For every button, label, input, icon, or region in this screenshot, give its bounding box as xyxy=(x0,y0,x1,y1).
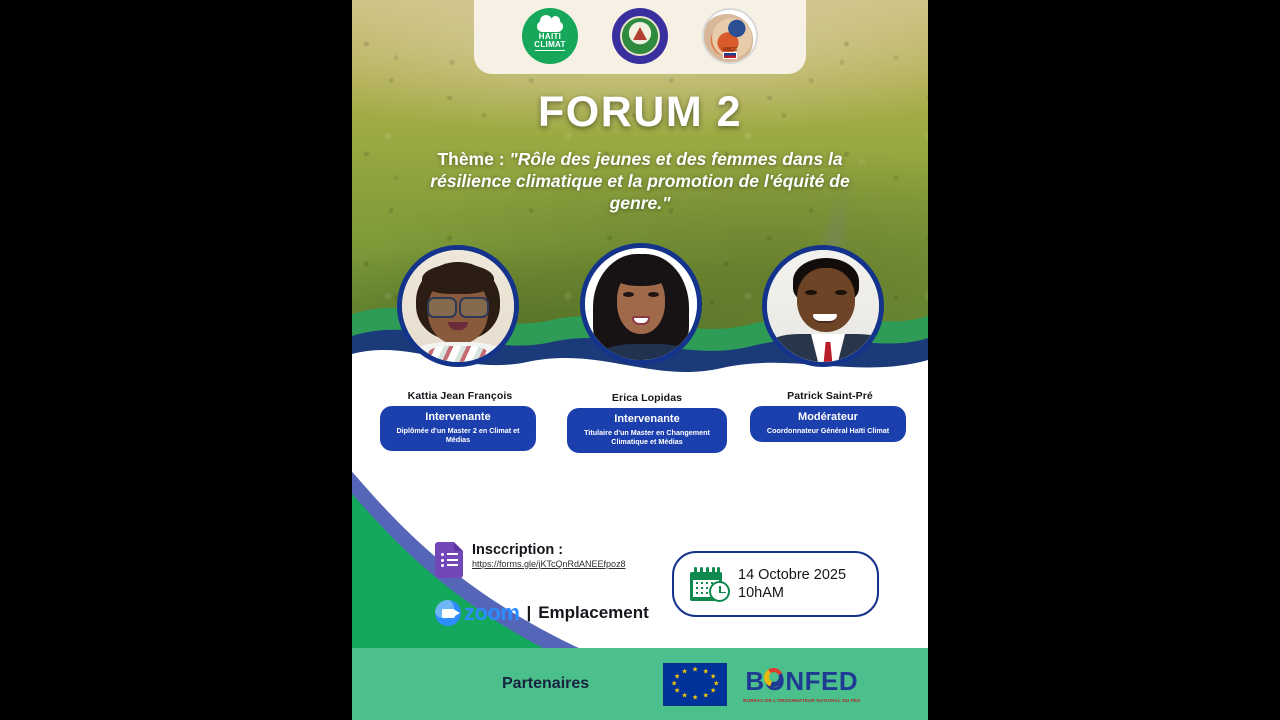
theme-statement: Thème : "Rôle des jeunes et des femmes d… xyxy=(398,148,882,214)
portrait-illustration xyxy=(585,248,697,360)
registration-title: Insccription : xyxy=(472,542,626,558)
partners-footer: Partenaires ★ ★ ★ ★ ★ ★ ★ ★ ★ ★ ★ ★ BONF… xyxy=(352,648,928,720)
google-forms-icon xyxy=(435,542,463,578)
speaker-name: Patrick Saint-Pré xyxy=(750,390,910,402)
event-datetime-box: 14 Octobre 2025 10hAM xyxy=(672,551,879,617)
video-camera-icon xyxy=(435,600,461,626)
amcc-flag-icon xyxy=(723,52,737,59)
avatar-speaker-3 xyxy=(762,245,884,367)
location-label: Emplacement xyxy=(538,603,649,623)
speaker-description: Titulaire d'un Master en Changement Clim… xyxy=(574,428,720,446)
speaker-role: Intervenante xyxy=(574,413,720,426)
glasses-icon xyxy=(427,297,489,314)
screenshot-canvas: Partenaires ★ ★ ★ ★ ★ ★ ★ ★ ★ ★ ★ ★ BONF… xyxy=(0,0,1280,720)
haiti-climat-logo: HAITI CLIMAT xyxy=(522,8,578,64)
bonfed-tagline: BUREAU DE L'ORDONNATEUR NATIONAL DU FED xyxy=(743,698,860,703)
registration-block: Insccription : https://forms.gle/jKTcQnR… xyxy=(435,542,685,626)
event-poster: Partenaires ★ ★ ★ ★ ★ ★ ★ ★ ★ ★ ★ ★ BONF… xyxy=(352,0,928,720)
speaker-card-1: Kattia Jean François Intervenante Diplôm… xyxy=(380,390,540,451)
bonfed-wordmark: BONFED xyxy=(745,666,858,697)
event-date: 14 Octobre 2025 xyxy=(738,566,846,584)
platform-row: zoom | Emplacement xyxy=(435,600,685,626)
speaker-role: Intervenante xyxy=(387,411,529,424)
calendar-clock-icon xyxy=(690,567,728,601)
event-time: 10hAM xyxy=(738,584,846,602)
amcc-logo: AMCC xyxy=(702,8,758,64)
speaker-description: Coordonnateur Général Haïti Climat xyxy=(757,426,899,435)
speaker-card-3: Patrick Saint-Pré Modérateur Coordonnate… xyxy=(750,390,910,442)
zoom-logo[interactable]: zoom xyxy=(435,600,519,626)
registration-row: Insccription : https://forms.gle/jKTcQnR… xyxy=(435,542,685,578)
logo-rule xyxy=(535,50,565,52)
speaker-role-badge: Modérateur Coordonnateur Général Haïti C… xyxy=(750,406,906,442)
portrait-illustration xyxy=(767,250,879,362)
speaker-role-badge: Intervenante Titulaire d'un Master en Ch… xyxy=(567,408,727,453)
avatar-speaker-1 xyxy=(397,245,519,367)
separator: | xyxy=(526,603,531,623)
haiti-climat-line2: CLIMAT xyxy=(534,41,565,49)
header-logo-card: HAITI CLIMAT AMCC xyxy=(474,0,806,74)
speaker-description: Diplômée d'un Master 2 en Climat et Médi… xyxy=(387,426,529,444)
zoom-wordmark: zoom xyxy=(464,600,519,626)
speaker-role-badge: Intervenante Diplômée d'un Master 2 en C… xyxy=(380,406,536,451)
speaker-name: Kattia Jean François xyxy=(380,390,540,402)
partners-label: Partenaires xyxy=(502,675,589,693)
ministere-environnement-logo xyxy=(612,8,668,64)
european-union-flag: ★ ★ ★ ★ ★ ★ ★ ★ ★ ★ ★ ★ xyxy=(663,663,727,706)
speaker-card-2: Erica Lopidas Intervenante Titulaire d'u… xyxy=(567,392,727,453)
portrait-illustration xyxy=(402,250,514,362)
avatar-speaker-2 xyxy=(580,243,702,365)
bonfed-logo: BONFED BUREAU DE L'ORDONNATEUR NATIONAL … xyxy=(743,666,860,703)
cloud-icon xyxy=(537,21,563,32)
registration-link[interactable]: https://forms.gle/jKTcQnRdANEEfpoz8 xyxy=(472,559,626,570)
theme-label: Thème : xyxy=(437,149,509,169)
speaker-name: Erica Lopidas xyxy=(567,392,727,404)
ministere-seal xyxy=(620,16,660,56)
page-title: FORUM 2 xyxy=(352,88,928,137)
speaker-role: Modérateur xyxy=(757,411,899,424)
